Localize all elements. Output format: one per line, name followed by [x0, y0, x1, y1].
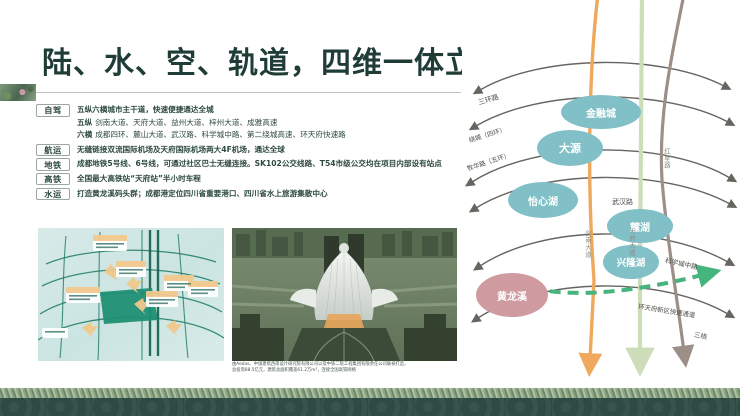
road-label-wuhan-road: 武汉路 [612, 197, 633, 207]
region-map-graphic [38, 228, 224, 361]
map-label-huanglongxi: 黄龙溪 [490, 288, 534, 303]
vertical-road-hongxing-road [661, 0, 684, 352]
sub-text-wuzong: 剑南大道、天府大道、益州大道、梓州大道、成雅高速 [95, 118, 277, 127]
transport-line: 无缝链接双流国际机场及天府国际机场两大4F机场，通达全球 [77, 144, 466, 157]
list-item: 地铁 成都地铁5号线、6号线，可通过社区巴士无缝连接。SK102公交线路、T54… [36, 158, 466, 171]
caption-line-2: 总投资88.5亿元，建筑总面积覆盖61.2万m²，连接全国高铁网络 [232, 368, 458, 374]
station-rendering-image [232, 228, 457, 361]
map-label-xinglonghu: 兴隆湖 [608, 255, 654, 269]
region-location-map-image [38, 228, 224, 361]
transport-line: 六横成都四环、麓山大道、武汉路、科学城中路、第二绕城高速、环天府快速路 [77, 129, 466, 142]
transport-line: 五纵六横城市主干道，快速便捷通达全城 [77, 104, 466, 117]
road-label-third-outer-ring: 三绕 [693, 329, 708, 341]
transport-detail-highspeed-rail: 全国最大高铁站“天府站”半小时车程 [77, 173, 466, 186]
footer-pattern [0, 397, 740, 416]
transport-badge-highspeed-rail: 高铁 [36, 173, 70, 186]
footer-foliage-strip [0, 388, 740, 398]
sub-label-wuzong: 五纵 [77, 118, 92, 127]
station-rendering-graphic [232, 228, 457, 361]
vroad-label-tianfu-avenue: 天府大道 [628, 228, 637, 256]
vroad-label-jiannan-avenue: 剑南大道 [584, 230, 593, 258]
list-item: 航运 无缝链接双流国际机场及天府国际机场两大4F机场，通达全球 [36, 144, 466, 157]
transport-line: 打造黄龙溪码头群；成都港定位四川省重要港口、四川省水上旅游集散中心 [77, 188, 466, 201]
transport-detail-drive: 五纵六横城市主干道，快速便捷通达全城 五纵剑南大道、天府大道、益州大道、梓州大道… [77, 104, 466, 142]
transport-line: 全国最大高铁站“天府站”半小时车程 [77, 173, 466, 186]
map-label-luhu: 麓湖 [620, 219, 660, 234]
list-item: 高铁 全国最大高铁站“天府站”半小时车程 [36, 173, 466, 186]
list-item: 自驾 五纵六横城市主干道，快速便捷通达全城 五纵剑南大道、天府大道、益州大道、梓… [36, 104, 466, 142]
transport-line: 五纵剑南大道、天府大道、益州大道、梓州大道、成雅高速 [77, 117, 466, 130]
city-transport-schematic-map: 金融城 大源 怡心湖 麓湖 兴隆湖 黄龙溪 三环路 绕城（四环） 牧华路（五环）… [462, 0, 740, 390]
vroad-label-hongxing-road: 红星路 [663, 148, 672, 169]
map-label-yixinhu: 怡心湖 [520, 193, 566, 208]
list-item: 水运 打造黄龙溪码头群；成都港定位四川省重要港口、四川省水上旅游集散中心 [36, 188, 466, 201]
transport-badge-drive: 自驾 [36, 104, 70, 117]
transport-detail-aviation: 无缝链接双流国际机场及天府国际机场两大4F机场，通达全球 [77, 144, 466, 157]
transport-modes-list: 自驾 五纵六横城市主干道，快速便捷通达全城 五纵剑南大道、天府大道、益州大道、梓… [36, 104, 466, 202]
title-divider [36, 92, 461, 93]
transport-detail-metro: 成都地铁5号线、6号线，可通过社区巴士无缝连接。SK102公交线路、T54市级公… [77, 158, 466, 171]
sub-text-liuheng: 成都四环、麓山大道、武汉路、科学城中路、第二绕城高速、环天府快速路 [95, 130, 346, 139]
transport-badge-waterway: 水运 [36, 188, 70, 201]
map-label-dayuan: 大源 [548, 140, 592, 156]
map-label-jinrongcheng: 金融城 [578, 105, 624, 120]
image-caption: 由Aedas、中国建筑西南设计研究院有限公司以及中铁二院工程集团有限责任公司联袂… [232, 362, 458, 374]
transport-badge-aviation: 航运 [36, 144, 70, 157]
transport-line: 成都地铁5号线、6号线，可通过社区巴士无缝连接。SK102公交线路、T54市级公… [77, 158, 466, 171]
decorative-foliage-chip [0, 84, 36, 101]
sub-label-liuheng: 六横 [77, 130, 92, 139]
transport-badge-metro: 地铁 [36, 158, 70, 171]
transport-detail-waterway: 打造黄龙溪码头群；成都港定位四川省重要港口、四川省水上旅游集散中心 [77, 188, 466, 201]
vertical-road-jiannan-avenue [590, 0, 598, 360]
